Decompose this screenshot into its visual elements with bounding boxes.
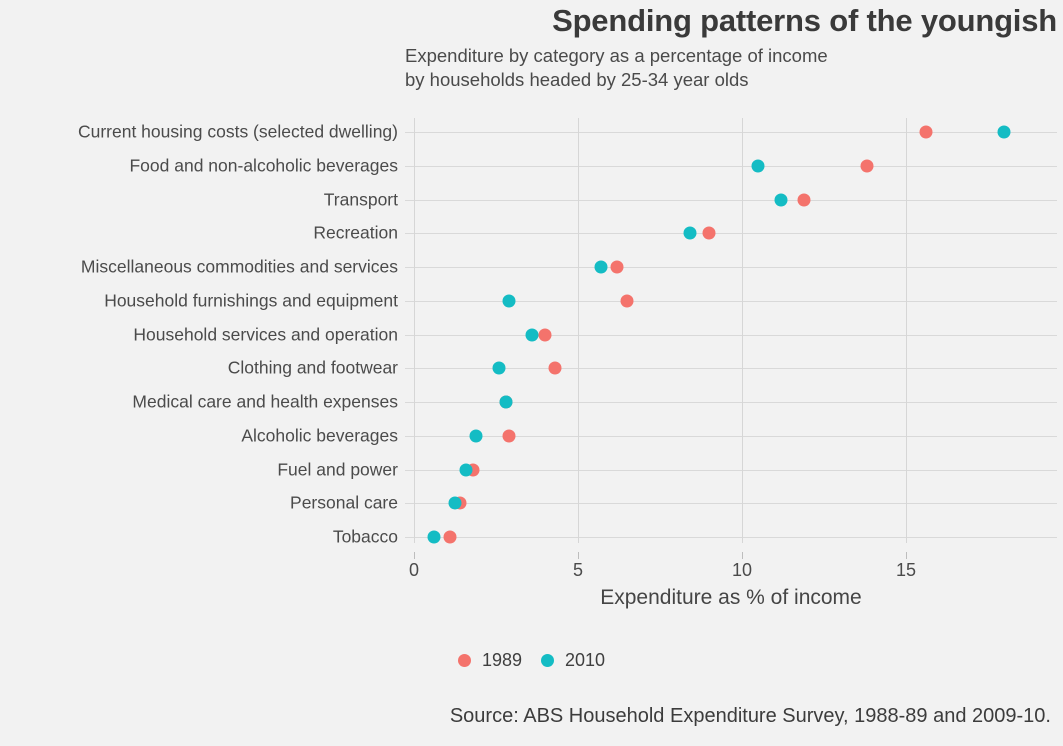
data-point-1989[interactable]: [539, 328, 552, 341]
data-point-2010[interactable]: [526, 328, 539, 341]
legend-item-1989[interactable]: 1989: [458, 650, 522, 671]
data-point-2010[interactable]: [493, 362, 506, 375]
legend-swatch-icon: [458, 654, 471, 667]
data-point-2010[interactable]: [998, 126, 1011, 139]
data-point-2010[interactable]: [427, 531, 440, 544]
x-axis-title: Expenditure as % of income: [405, 586, 1057, 610]
y-axis-label: Current housing costs (selected dwelling…: [78, 123, 398, 141]
plot-panel: [405, 118, 1057, 543]
x-axis-tick-label: 15: [896, 560, 916, 581]
data-point-2010[interactable]: [752, 159, 765, 172]
x-axis-tick-label: 10: [732, 560, 752, 581]
vertical-gridline: [414, 118, 415, 543]
data-point-1989[interactable]: [503, 429, 516, 442]
x-axis-tick-label: 0: [409, 560, 419, 581]
vertical-gridline: [578, 118, 579, 543]
y-axis-label: Clothing and footwear: [228, 360, 398, 378]
y-axis-label: Household services and operation: [133, 326, 398, 344]
legend-item-2010[interactable]: 2010: [541, 650, 605, 671]
x-axis-tickmark: [414, 552, 415, 559]
x-axis-tick-label: 5: [573, 560, 583, 581]
horizontal-gridline: [405, 335, 1057, 336]
y-axis-label: Fuel and power: [277, 461, 398, 479]
y-axis-label: Food and non-alcoholic beverages: [129, 157, 398, 175]
data-point-1989[interactable]: [444, 531, 457, 544]
chart-legend: 19892010: [0, 650, 1063, 671]
y-axis-labels: Current housing costs (selected dwelling…: [0, 118, 398, 543]
vertical-gridline: [906, 118, 907, 543]
chart-page: Spending patterns of the youngish Expend…: [0, 0, 1063, 746]
chart-header: Spending patterns of the youngish Expend…: [405, 4, 1057, 93]
horizontal-gridline: [405, 132, 1057, 133]
y-axis-label: Transport: [324, 191, 398, 209]
y-axis-label: Medical care and health expenses: [132, 393, 398, 411]
horizontal-gridline: [405, 503, 1057, 504]
x-axis-tick-labels: 051015: [405, 560, 1057, 584]
data-point-1989[interactable]: [860, 159, 873, 172]
chart-title: Spending patterns of the youngish: [405, 4, 1057, 39]
chart-subtitle-line2: by households headed by 25-34 year olds: [405, 69, 749, 90]
data-point-2010[interactable]: [460, 463, 473, 476]
y-axis-label: Alcoholic beverages: [241, 427, 398, 445]
data-point-1989[interactable]: [611, 261, 624, 274]
data-point-2010[interactable]: [503, 294, 516, 307]
data-point-1989[interactable]: [798, 193, 811, 206]
y-axis-label: Miscellaneous commodities and services: [81, 258, 398, 276]
x-axis-tickmark: [578, 552, 579, 559]
data-point-1989[interactable]: [703, 227, 716, 240]
horizontal-gridline: [405, 537, 1057, 538]
data-point-1989[interactable]: [919, 126, 932, 139]
data-point-1989[interactable]: [549, 362, 562, 375]
horizontal-gridline: [405, 233, 1057, 234]
y-axis-label: Personal care: [290, 495, 398, 513]
horizontal-gridline: [405, 470, 1057, 471]
chart-subtitle: Expenditure by category as a percentage …: [405, 44, 1057, 93]
data-point-2010[interactable]: [499, 396, 512, 409]
data-point-2010[interactable]: [775, 193, 788, 206]
legend-swatch-icon: [541, 654, 554, 667]
y-axis-label: Tobacco: [333, 528, 398, 546]
source-caption: Source: ABS Household Expenditure Survey…: [450, 705, 1051, 728]
data-point-2010[interactable]: [683, 227, 696, 240]
horizontal-gridline: [405, 166, 1057, 167]
plot-area: Current housing costs (selected dwelling…: [0, 118, 1063, 558]
y-axis-label: Household furnishings and equipment: [104, 292, 398, 310]
data-point-1989[interactable]: [621, 294, 634, 307]
x-axis-tickmark: [742, 552, 743, 559]
data-point-2010[interactable]: [594, 261, 607, 274]
y-axis-label: Recreation: [313, 225, 398, 243]
horizontal-gridline: [405, 200, 1057, 201]
vertical-gridline: [742, 118, 743, 543]
legend-label: 1989: [482, 650, 522, 671]
legend-label: 2010: [565, 650, 605, 671]
chart-subtitle-line1: Expenditure by category as a percentage …: [405, 45, 828, 66]
data-point-2010[interactable]: [470, 429, 483, 442]
x-axis-tickmark: [906, 552, 907, 559]
data-point-2010[interactable]: [449, 497, 462, 510]
horizontal-gridline: [405, 267, 1057, 268]
